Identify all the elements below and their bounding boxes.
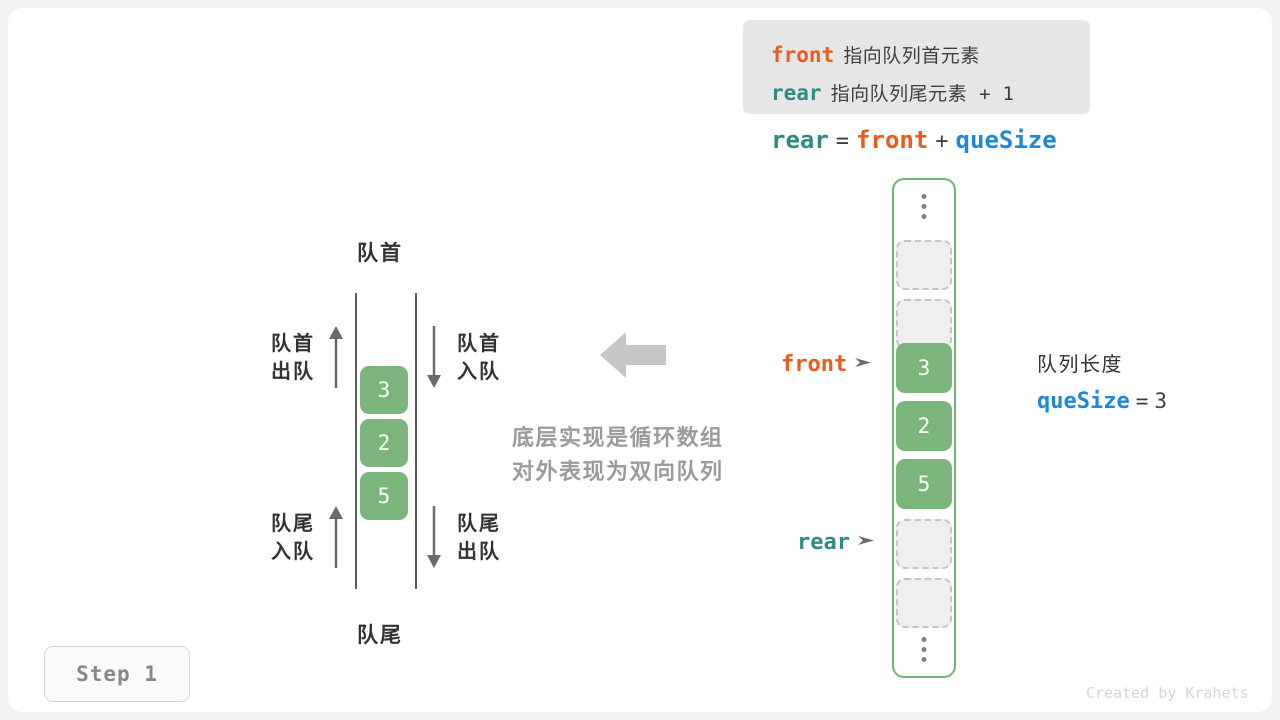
legend-front-keyword: front	[771, 43, 834, 67]
label-head-enqueue: 队首 入队	[457, 330, 501, 386]
legend-box: front指向队列首元素 rear指向队列尾元素+1	[743, 20, 1090, 114]
array-cell-empty	[896, 519, 952, 569]
deque-cell: 5	[360, 472, 408, 520]
quesize-value: 3	[1154, 389, 1167, 413]
deque-rail-right	[415, 293, 417, 589]
pointer-arrow-icon	[858, 534, 874, 552]
array-cell-empty	[896, 578, 952, 628]
label-tail-enqueue-line2: 入队	[259, 538, 315, 566]
legend-row-front: front指向队列首元素	[771, 41, 980, 68]
circular-array-column: 3 2 5	[892, 178, 956, 678]
credit-text: Created by Krahets	[1086, 684, 1249, 702]
legend-row-rear: rear指向队列尾元素+1	[771, 79, 1014, 106]
queue-size-note: 队列长度 queSize=3	[1037, 348, 1167, 414]
array-cell-filled: 2	[896, 401, 952, 451]
legend-rear-offset: 1	[1003, 83, 1014, 105]
quesize-keyword: queSize	[1037, 389, 1130, 414]
formula-rear-equals-front-plus-quesize: rear=front+queSize	[771, 126, 1057, 154]
formula-equals: =	[836, 129, 849, 154]
formula-lhs: rear	[771, 126, 829, 154]
formula-plus: +	[935, 129, 948, 154]
deque-cell: 3	[360, 366, 408, 414]
deque-head-title: 队首	[357, 237, 403, 267]
arrow-down-head-enqueue-icon	[423, 326, 445, 388]
legend-front-text: 指向队列首元素	[843, 46, 980, 67]
pointer-arrow-icon	[855, 356, 871, 374]
label-head-dequeue: 队首 出队	[259, 330, 315, 386]
label-head-dequeue-line1: 队首	[259, 330, 315, 358]
deque-rail-left	[355, 293, 357, 589]
label-head-enqueue-line2: 入队	[457, 358, 501, 386]
queue-size-expression: queSize=3	[1037, 389, 1167, 414]
rear-pointer-label: rear	[797, 530, 850, 555]
ellipsis-top-icon	[922, 194, 927, 219]
front-pointer-label: front	[781, 352, 847, 377]
center-note-line1: 底层实现是循环数组	[512, 421, 724, 455]
big-left-arrow-icon	[600, 330, 666, 385]
step-badge: Step 1	[44, 646, 190, 702]
array-cell-empty	[896, 299, 952, 349]
quesize-equals: =	[1136, 389, 1149, 413]
array-cell-filled: 5	[896, 459, 952, 509]
array-cell-filled: 3	[896, 343, 952, 393]
front-pointer: front	[781, 352, 871, 377]
legend-rear-plus: +	[979, 83, 990, 105]
array-cell-empty	[896, 240, 952, 290]
arrow-down-tail-dequeue-icon	[423, 506, 445, 568]
center-note: 底层实现是循环数组 对外表现为双向队列	[512, 421, 724, 489]
label-tail-dequeue-line2: 出队	[457, 538, 501, 566]
label-tail-dequeue-line1: 队尾	[457, 510, 501, 538]
diagram-canvas: front指向队列首元素 rear指向队列尾元素+1 rear=front+qu…	[8, 8, 1272, 712]
legend-rear-keyword: rear	[771, 81, 822, 105]
arrow-up-tail-enqueue-icon	[325, 506, 347, 568]
ellipsis-bottom-icon	[922, 637, 927, 662]
arrow-up-head-dequeue-icon	[325, 326, 347, 388]
label-tail-enqueue-line1: 队尾	[259, 510, 315, 538]
formula-term-quesize: queSize	[956, 126, 1057, 154]
legend-rear-text: 指向队列尾元素	[831, 84, 968, 105]
formula-term-front: front	[856, 126, 928, 154]
label-head-enqueue-line1: 队首	[457, 330, 501, 358]
label-head-dequeue-line2: 出队	[259, 358, 315, 386]
rear-pointer: rear	[797, 530, 874, 555]
deque-cell: 2	[360, 419, 408, 467]
label-tail-enqueue: 队尾 入队	[259, 510, 315, 566]
queue-size-title: 队列长度	[1037, 348, 1167, 377]
deque-tail-title: 队尾	[357, 619, 403, 649]
label-tail-dequeue: 队尾 出队	[457, 510, 501, 566]
center-note-line2: 对外表现为双向队列	[512, 455, 724, 489]
